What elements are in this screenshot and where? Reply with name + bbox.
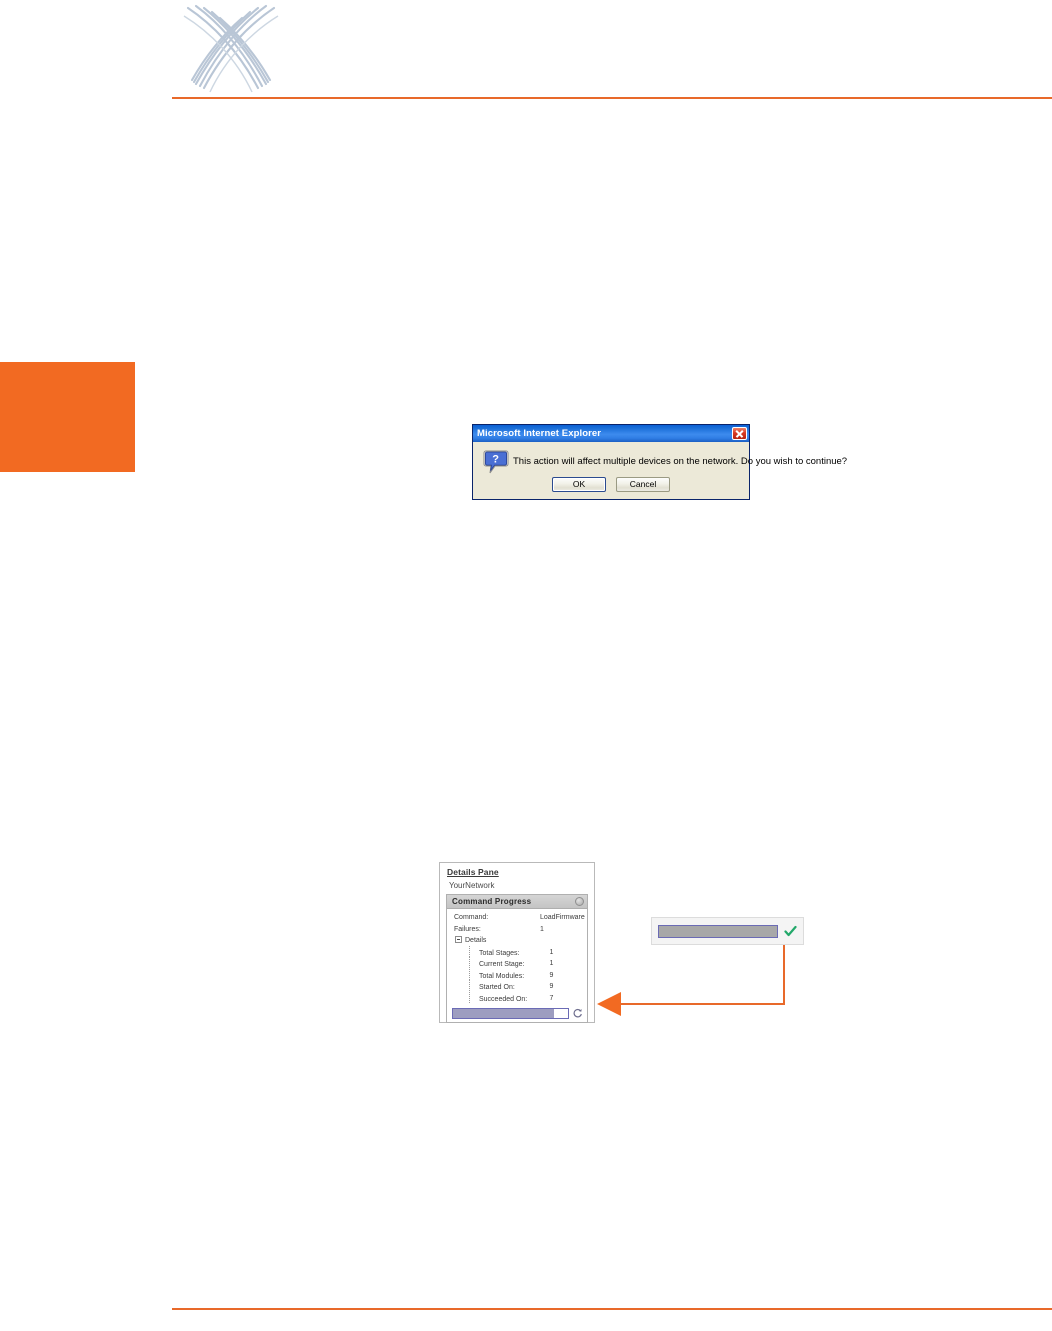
footer-rule [172, 1308, 1052, 1310]
ok-button[interactable]: OK [552, 477, 606, 492]
row-value: 9 [550, 970, 587, 982]
row-value: 1 [550, 947, 587, 959]
command-progress-header: Command Progress [447, 895, 587, 909]
collapse-icon[interactable] [575, 897, 584, 906]
row-value: 1 [540, 924, 580, 936]
details-pane: Details Pane YourNetwork Command Progres… [439, 862, 595, 1023]
row-value: 9 [550, 981, 587, 993]
chapter-tab [0, 362, 135, 472]
row-value: 1 [550, 958, 587, 970]
callout-arrow [597, 992, 621, 1016]
callout-zoom-box [651, 917, 804, 945]
row-label: Failures: [447, 924, 540, 936]
row-value: 7 [550, 993, 587, 1005]
svg-text:?: ? [492, 453, 499, 465]
tree-collapse-icon[interactable] [455, 936, 462, 943]
green-check-icon [784, 925, 797, 938]
callout-progress-bar [658, 925, 778, 938]
command-progress-row: Succeeded On:7 [447, 993, 587, 1005]
dialog-body: ? This action will affect multiple devic… [473, 442, 749, 499]
question-bubble-icon: ? [483, 449, 509, 475]
network-name: YourNetwork [440, 877, 594, 894]
row-value: LoadFirmware [540, 912, 580, 924]
close-icon[interactable] [732, 427, 747, 440]
progress-bar [452, 1008, 569, 1019]
command-progress-row: Failures:1 [447, 924, 587, 936]
command-progress-title: Command Progress [452, 897, 575, 906]
tree-branch-icon [469, 969, 477, 980]
command-progress-rows: Command:LoadFirmwareFailures:1DetailsTot… [447, 909, 587, 1006]
command-progress-row: Command:LoadFirmware [447, 912, 587, 924]
dialog-title: Microsoft Internet Explorer [477, 428, 732, 439]
tree-branch-icon [469, 946, 477, 957]
dialog-message: This action will affect multiple devices… [509, 451, 847, 468]
header-rule [172, 97, 1052, 99]
tree-branch-icon [469, 980, 477, 991]
dialog-titlebar: Microsoft Internet Explorer [473, 425, 749, 442]
cancel-button[interactable]: Cancel [616, 477, 670, 492]
refresh-icon[interactable] [572, 1008, 583, 1019]
company-logo [182, 2, 280, 94]
tree-branch-icon [469, 957, 477, 968]
callout-leader-horizontal [619, 1003, 785, 1005]
dialog-button-row: OK Cancel [473, 477, 749, 492]
tree-branch-icon [469, 992, 477, 1003]
command-progress-bar-row [447, 1006, 587, 1022]
details-pane-title: Details Pane [440, 863, 594, 877]
row-label: Command: [447, 912, 540, 924]
row-label: Succeeded On: [447, 992, 550, 1006]
ie-confirmation-dialog: Microsoft Internet Explorer ? This actio… [472, 424, 750, 500]
callout-leader-vertical [783, 945, 785, 1005]
command-progress-panel: Command Progress Command:LoadFirmwareFai… [446, 894, 588, 1023]
